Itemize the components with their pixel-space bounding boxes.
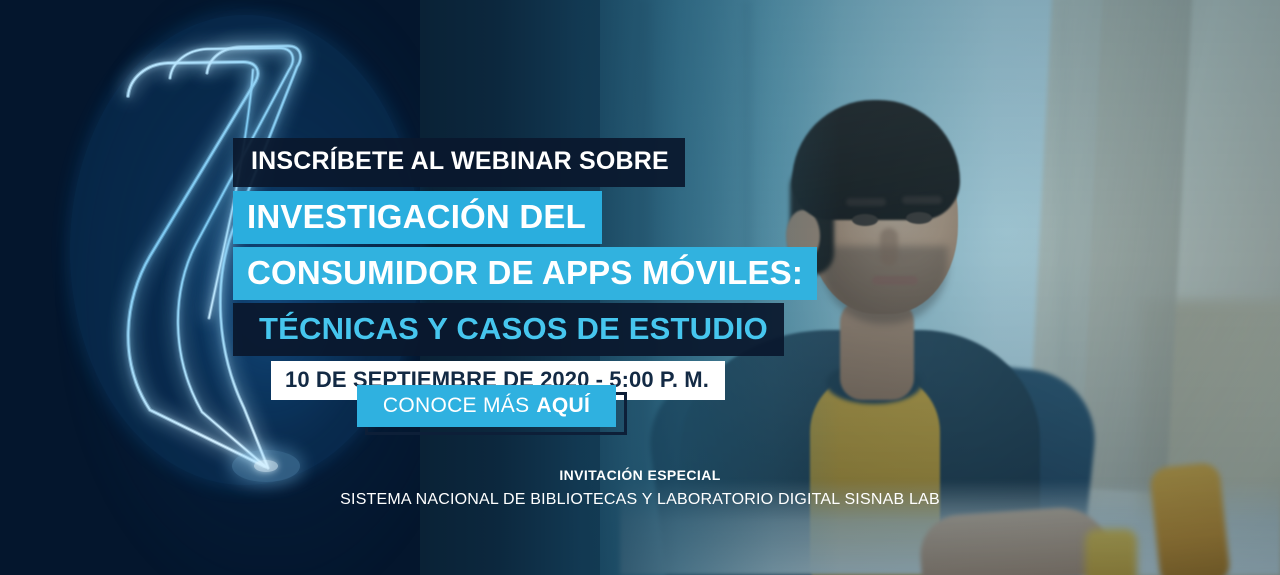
headline-line-4: TÉCNICAS Y CASOS DE ESTUDIO <box>233 303 784 356</box>
cta-label: CONOCE MÁS <box>383 394 530 418</box>
credits-line-1: INVITACIÓN ESPECIAL <box>0 465 1280 485</box>
cta-container: CONOCE MÁSAQUÍ <box>357 385 627 435</box>
cta-emphasis: AQUÍ <box>536 394 590 418</box>
headline-line-1: INSCRÍBETE AL WEBINAR SOBRE <box>233 138 685 187</box>
credits-line-2: SISTEMA NACIONAL DE BIBLIOTECAS Y LABORA… <box>0 485 1280 515</box>
headline-line-2: INVESTIGACIÓN DEL <box>233 191 602 244</box>
webinar-promo-banner: INSCRÍBETE AL WEBINAR SOBRE INVESTIGACIÓ… <box>0 0 1280 575</box>
conoce-mas-aqui-button[interactable]: CONOCE MÁSAQUÍ <box>357 385 616 427</box>
headline-line-3: CONSUMIDOR DE APPS MÓVILES: <box>233 247 817 300</box>
headline-block: INSCRÍBETE AL WEBINAR SOBRE INVESTIGACIÓ… <box>233 138 817 400</box>
credits-block: INVITACIÓN ESPECIAL SISTEMA NACIONAL DE … <box>0 465 1280 516</box>
